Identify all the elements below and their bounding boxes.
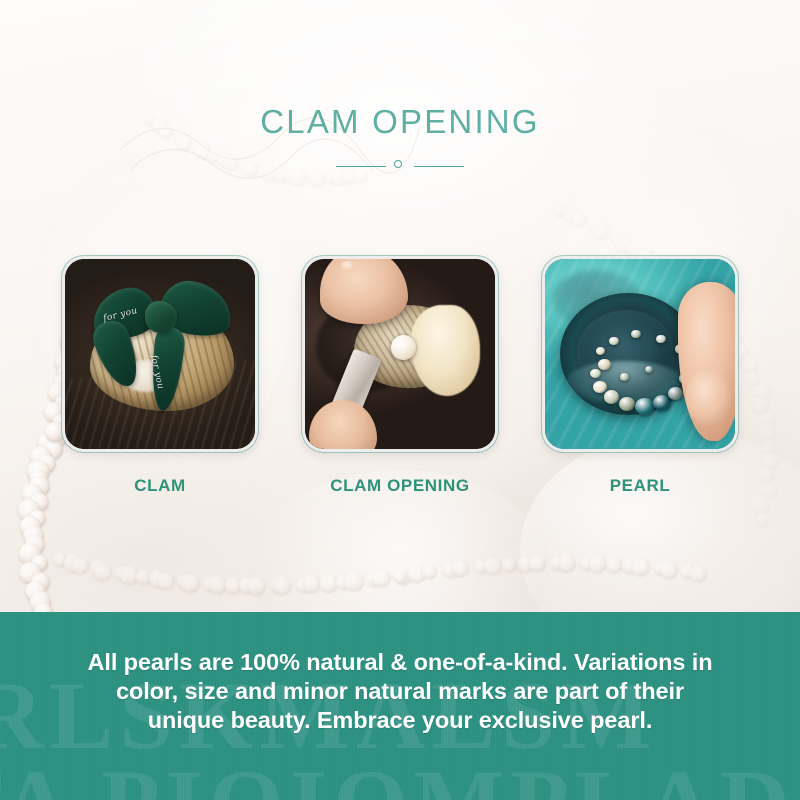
pearl-bead <box>593 381 607 393</box>
pearl-bead <box>619 397 635 412</box>
pearl-bead <box>656 335 666 344</box>
divider-line-right <box>414 166 464 168</box>
card-caption-clam: CLAM <box>134 476 186 496</box>
header-block: CLAM OPENING <box>0 104 800 174</box>
pearl-bead <box>598 359 610 370</box>
thumb-shape <box>686 369 732 426</box>
oyster-meat-shape <box>411 305 479 396</box>
disclaimer-banner: RLSKMALSM TA PIOIOMPLAD All pearls are 1… <box>0 612 800 800</box>
photo-pearl <box>545 259 735 449</box>
photo-frame-pearl <box>542 256 738 452</box>
pearl-product-infographic: CLAM OPENING <box>0 0 800 800</box>
process-card-clam-opening: CLAM OPENING <box>302 256 498 506</box>
pearl-bead <box>631 330 641 339</box>
process-cards-row: for you for you CLAM <box>0 256 800 506</box>
ribbon-knot <box>145 301 177 333</box>
process-card-pearl: PEARL <box>542 256 738 506</box>
pearl-bead <box>653 395 671 411</box>
divider-dot-icon <box>394 160 402 168</box>
card-caption-pearl: PEARL <box>610 476 671 496</box>
photo-frame-clam-opening <box>302 256 498 452</box>
white-pearl-shape <box>391 335 416 360</box>
pearl-bead <box>620 373 628 380</box>
hand-finger-top <box>320 259 407 324</box>
card-caption-clam-opening: CLAM OPENING <box>330 476 469 496</box>
divider-line-left <box>336 166 386 168</box>
title-divider <box>336 158 464 174</box>
photo-clam: for you for you <box>65 259 255 449</box>
watermark-line: TA PIOIOMPLAD <box>0 748 796 800</box>
process-card-clam: for you for you CLAM <box>62 256 258 506</box>
pearl-bead <box>604 390 619 403</box>
banner-disclaimer-text: All pearls are 100% natural & one-of-a-k… <box>80 648 720 735</box>
page-title: CLAM OPENING <box>0 104 800 140</box>
photo-clam-opening <box>305 259 495 449</box>
photo-frame-clam: for you for you <box>62 256 258 452</box>
pearl-bead <box>635 398 654 415</box>
oyster-shell-shape <box>560 293 697 415</box>
fingernail-shape <box>341 261 355 271</box>
